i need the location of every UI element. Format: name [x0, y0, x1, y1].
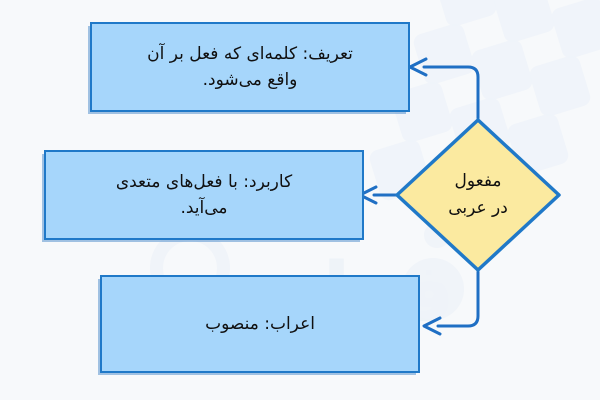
node-definition[interactable]: تعریف: کلمه‌ای که فعل بر آن واقع می‌شود. [90, 22, 410, 112]
node-erab[interactable]: اعراب: منصوب [100, 275, 420, 373]
node-erab-label: اعراب: منصوب [193, 311, 327, 337]
connector-root-to-definition [410, 59, 478, 118]
node-root-label: مفعول در عربی [448, 168, 508, 222]
node-root[interactable]: مفعول در عربی [394, 117, 562, 273]
node-usage-label: کاربرد: با فعل‌های متعدی می‌آید. [104, 169, 304, 222]
node-usage[interactable]: کاربرد: با فعل‌های متعدی می‌آید. [44, 150, 364, 240]
node-definition-label: تعریف: کلمه‌ای که فعل بر آن واقع می‌شود. [135, 41, 365, 94]
connector-root-to-erab [424, 272, 478, 334]
diagram-canvas: فرادرس تعریف: کلمه‌ای که فعل بر آن واقع … [0, 0, 600, 400]
